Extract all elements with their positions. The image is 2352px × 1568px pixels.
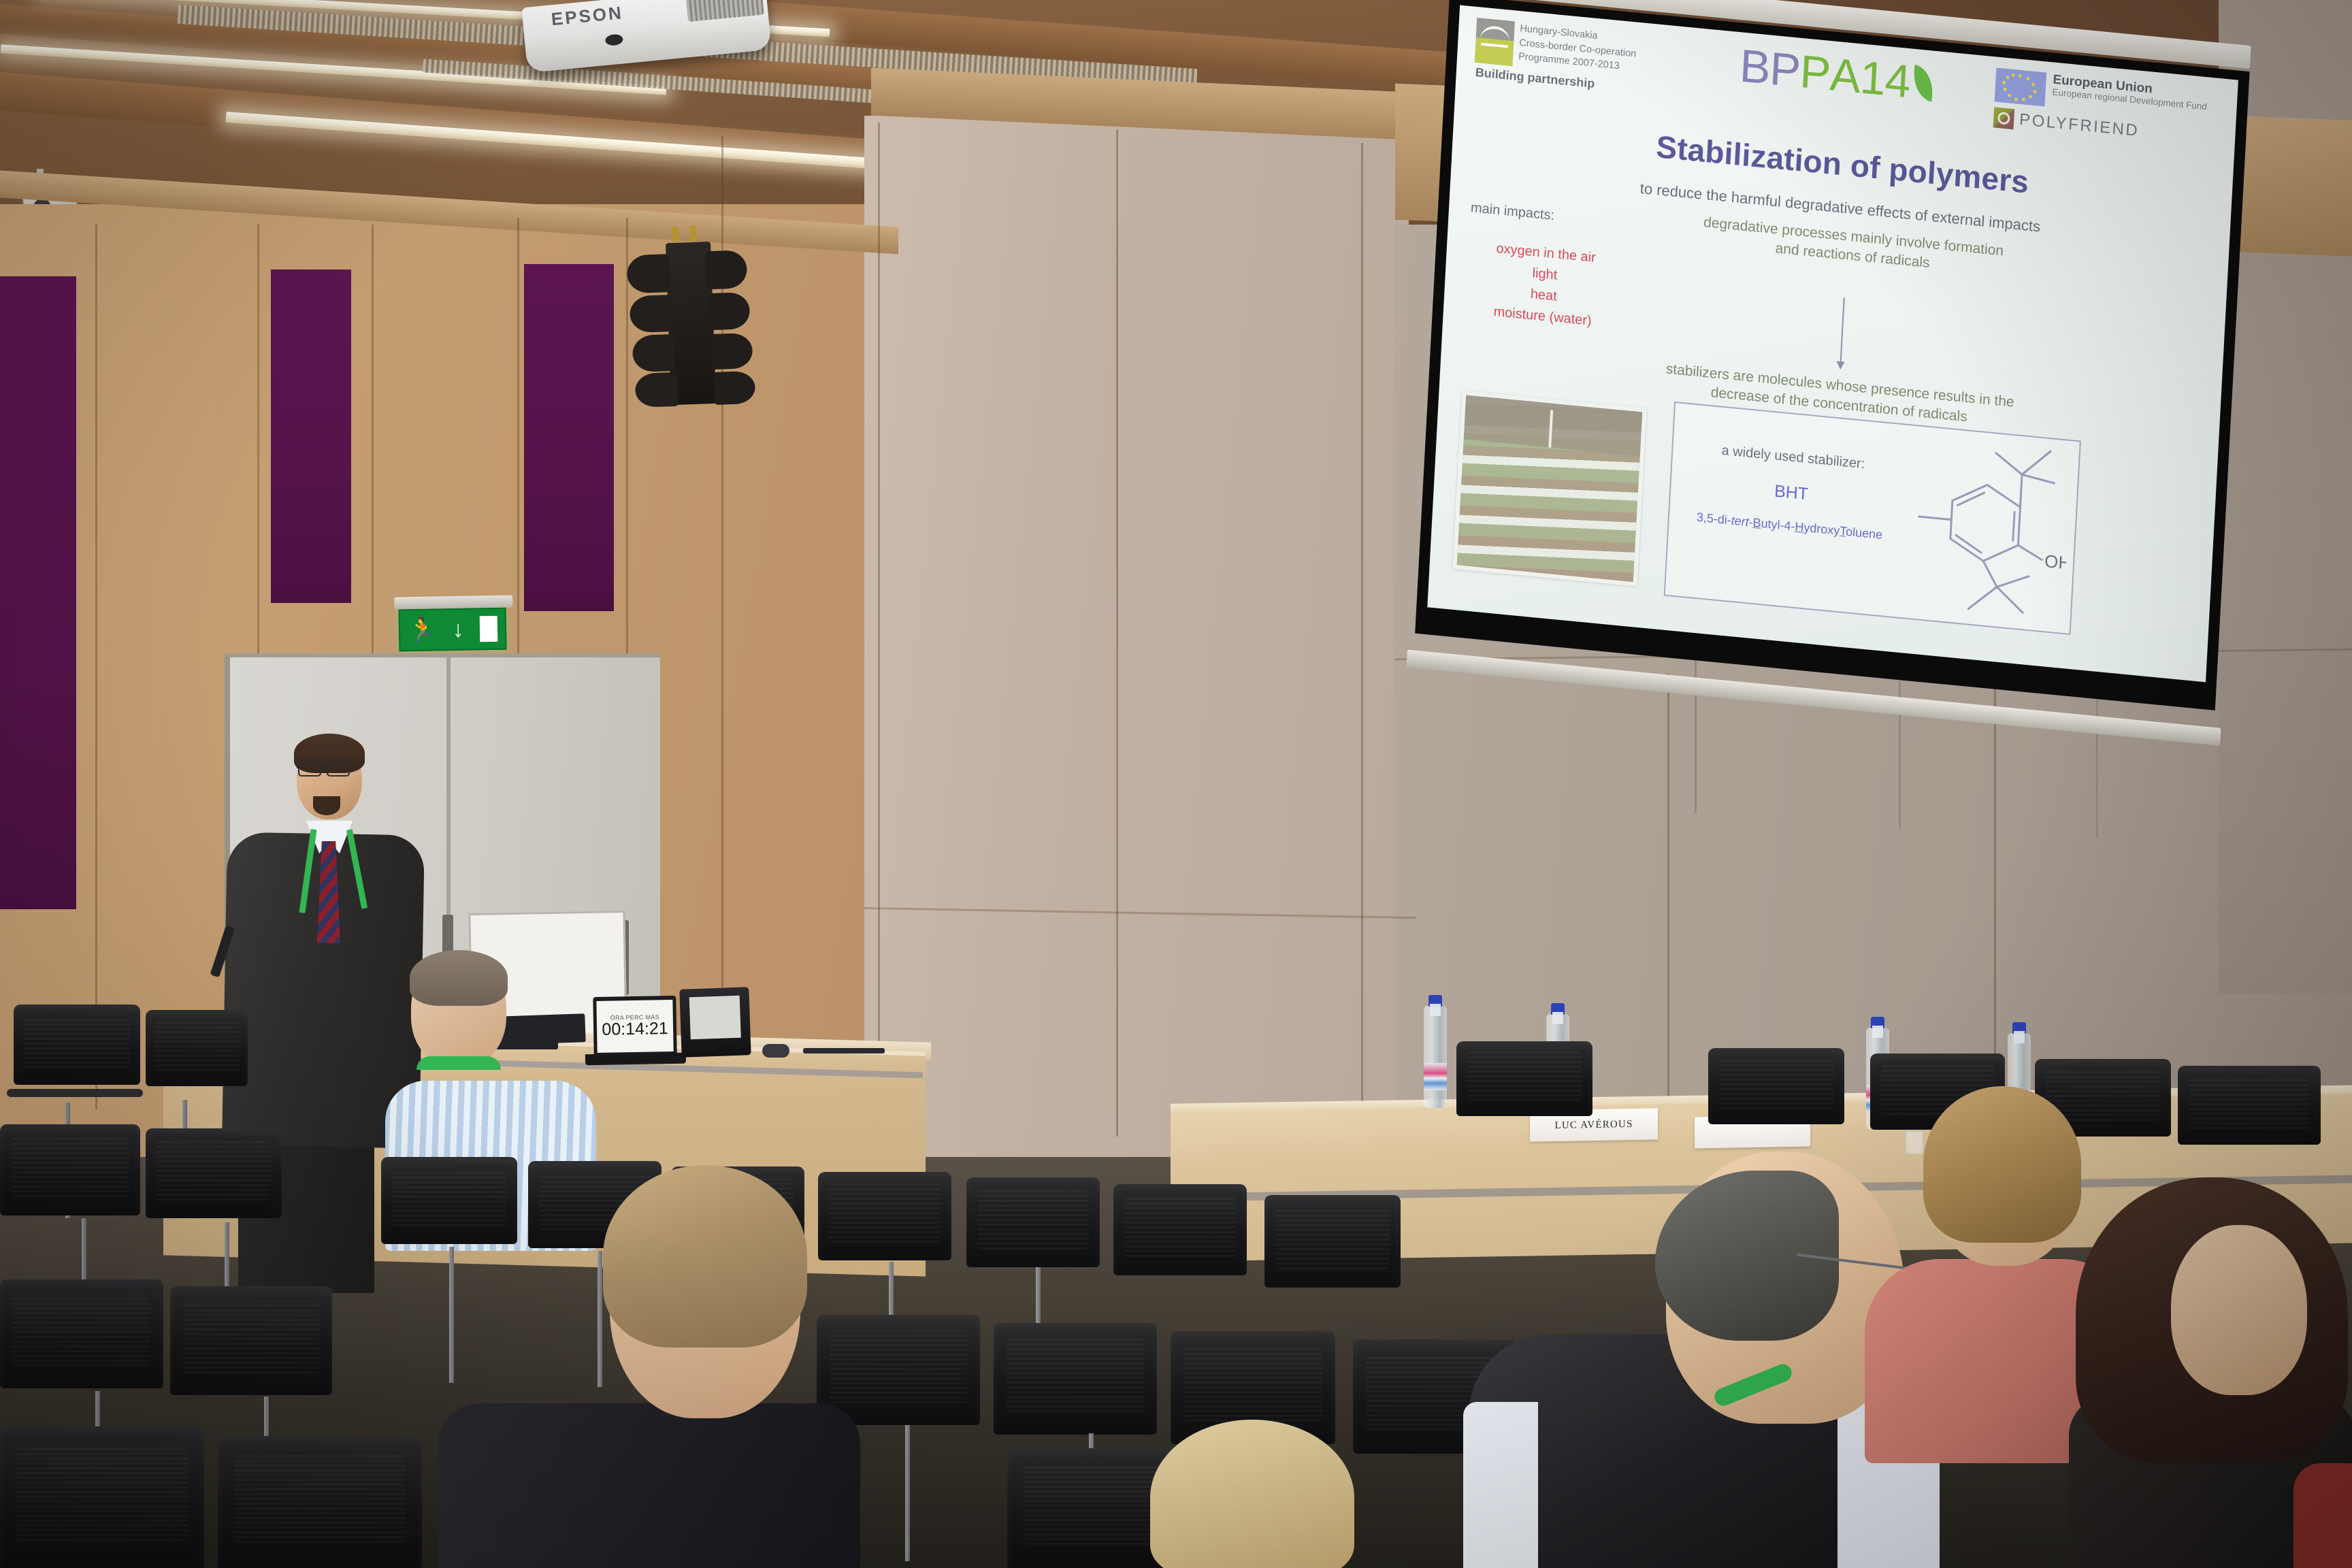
audience-chair[interactable] — [218, 1436, 422, 1568]
bppa14-logo: BPPA14 — [1738, 39, 1935, 110]
bht-callout-box: a widely used stabilizer: BHT 3,5-di-ter… — [1664, 402, 2081, 635]
purple-acoustic-panel — [271, 269, 351, 603]
chair-armrest — [7, 1089, 143, 1097]
projection-screen: Hungary-Slovakia Cross-border Co-operati… — [1414, 0, 2249, 734]
bppa-letter-p1: P — [1769, 42, 1801, 98]
nameplate-text: LUC AVÉROUS — [1554, 1118, 1633, 1131]
bht-text-block: a widely used stabilizer: BHT 3,5-di-ter… — [1684, 440, 1898, 544]
wall-seam — [95, 225, 97, 1109]
leaf-icon — [1908, 65, 1938, 102]
audience-torso — [438, 1403, 860, 1568]
screen-surface: Hungary-Slovakia Cross-border Co-operati… — [1427, 5, 2238, 683]
chair-leg — [905, 1425, 910, 1561]
projector-brand-label: EPSON — [551, 2, 625, 30]
field-photo — [1452, 391, 1646, 587]
panel-chair[interactable] — [1708, 1048, 1844, 1124]
bht-molecule-diagram: OH — [1893, 430, 2073, 629]
timer-value: 00:14:21 — [602, 1020, 668, 1039]
emergency-exit-sign: 🏃 ↓ — [398, 608, 506, 652]
audience-chair[interactable] — [170, 1286, 332, 1395]
audience-chair[interactable] — [1264, 1195, 1401, 1288]
purple-acoustic-panel — [0, 276, 76, 909]
audience-chair[interactable] — [14, 1004, 140, 1085]
operator-lanyard — [416, 1056, 501, 1070]
chair-leg — [598, 1251, 602, 1387]
bottle-neck — [1872, 1026, 1883, 1038]
bht-oluene: oluene — [1846, 525, 1883, 542]
bottle-neck — [1430, 1004, 1441, 1016]
screen-frame: Hungary-Slovakia Cross-border Co-operati… — [1415, 0, 2249, 710]
timer-laptop[interactable]: ÓRA PERC MÁS 00:14:21 — [593, 996, 676, 1056]
audience-member-far-right — [2293, 1463, 2352, 1568]
panel-chair[interactable] — [1456, 1041, 1592, 1116]
presenter-beard — [313, 796, 340, 815]
bht-utyl: utyl-4- — [1761, 517, 1795, 534]
bht-abbrev: BHT — [1686, 473, 1897, 513]
projector-vent-grille — [685, 0, 764, 22]
arrow-down-icon: ↓ — [452, 618, 464, 641]
audience-chair[interactable] — [994, 1323, 1157, 1435]
bppa-letter-a: A — [1829, 48, 1861, 103]
chair-leg — [449, 1247, 454, 1383]
running-man-icon: 🏃 — [408, 618, 437, 642]
audience-head — [1150, 1420, 1354, 1568]
main-impacts-label: main impacts: — [1470, 200, 1554, 224]
bht-structure-svg: OH — [1893, 430, 2073, 629]
bht-prefix: 3,5-di- — [1696, 510, 1731, 527]
audience-chair[interactable] — [0, 1279, 163, 1388]
conference-room-photo: EPSON 🏃 ↓ — [0, 0, 2352, 1568]
presenter-glasses — [297, 766, 354, 768]
audience-hair — [603, 1165, 807, 1347]
exit-door-icon — [479, 616, 497, 642]
purple-acoustic-panel — [524, 264, 614, 611]
polyfriend-mark-icon — [1993, 107, 2015, 129]
hungary-slovakia-logo: Hungary-Slovakia Cross-border Co-operati… — [1473, 18, 1680, 99]
desk-cable — [803, 1048, 885, 1053]
wall-seam — [1667, 674, 1669, 1123]
audience-shirt-left — [1463, 1402, 1538, 1568]
projector-lens — [605, 33, 623, 46]
audience-chair[interactable] — [1113, 1184, 1247, 1275]
exit-sign-hood — [394, 595, 512, 609]
eu-flag-icon — [1995, 67, 2046, 106]
arrow-down-icon — [1840, 297, 1845, 368]
operator-hair — [410, 950, 508, 1006]
bht-ydroxy: ydroxy — [1803, 521, 1840, 538]
audience-chair[interactable] — [0, 1124, 140, 1215]
audience-chair[interactable] — [817, 1315, 980, 1425]
impacts-list: oxygen in the air light heat moisture (w… — [1467, 235, 1621, 334]
bht-letter-h: H — [1795, 520, 1804, 534]
oh-label: OH — [2044, 551, 2071, 574]
audience-hair — [1923, 1086, 2081, 1243]
bppa-letter-p2: P — [1799, 45, 1831, 101]
bottle-label — [1424, 1063, 1447, 1090]
desk-mouse[interactable] — [762, 1044, 789, 1058]
audience-chair[interactable] — [966, 1177, 1100, 1267]
water-bottle[interactable] — [1424, 1006, 1447, 1108]
bht-intro: a widely used stabilizer: — [1688, 440, 1899, 476]
panel-chair[interactable] — [2178, 1066, 2321, 1145]
wall-seam — [1361, 143, 1363, 1123]
photo-washout-overlay — [1452, 391, 1646, 587]
bht-full-name: 3,5-di-tert-Butyl-4-HydroxyToluene — [1684, 509, 1895, 544]
polyfriend-label: POLYFRIEND — [2019, 110, 2140, 141]
audience-chair[interactable] — [0, 1426, 204, 1568]
presentation-slide: Hungary-Slovakia Cross-border Co-operati… — [1427, 5, 2238, 683]
hungary-slovakia-mark-icon — [1475, 18, 1515, 66]
wall-seam — [878, 122, 880, 1157]
bottle-neck — [2014, 1031, 2025, 1043]
slide-body: main impacts: oxygen in the air light he… — [1445, 196, 2210, 683]
audience-chair[interactable] — [146, 1128, 282, 1218]
audience-chair[interactable] — [381, 1157, 517, 1244]
drinking-glass[interactable] — [1906, 1131, 1923, 1154]
audience-chair[interactable] — [818, 1172, 951, 1260]
eu-polyfriend-logos: European Union European regional Develop… — [1993, 67, 2221, 149]
bottle-neck — [1552, 1012, 1563, 1024]
presenter-laptop[interactable] — [679, 987, 751, 1057]
wall-seam — [1116, 129, 1118, 1137]
timer-display: ÓRA PERC MÁS 00:14:21 — [596, 1000, 673, 1053]
bht-tert: tert — [1731, 514, 1749, 529]
center-wall — [864, 116, 1409, 1177]
bppa-number: 14 — [1859, 50, 1912, 108]
audience-head — [2171, 1225, 2307, 1395]
audience-chair[interactable] — [146, 1010, 248, 1086]
bht-letter-b: B — [1752, 516, 1761, 530]
line-array-speaker — [623, 233, 763, 408]
bppa-letter-b: B — [1738, 39, 1771, 95]
